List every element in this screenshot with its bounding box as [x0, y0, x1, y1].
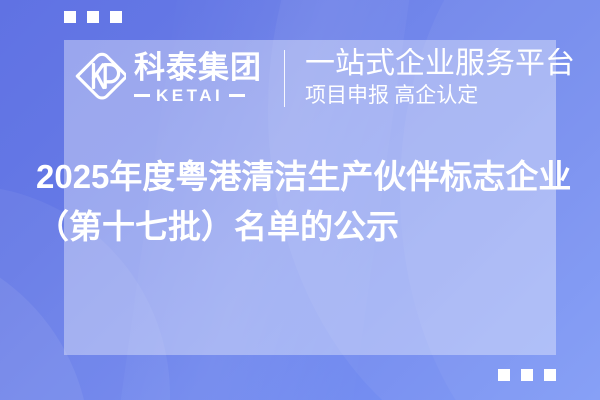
- square-dot-icon: [498, 369, 510, 381]
- slogan-block: 一站式企业服务平台 项目申报 高企认定: [305, 48, 575, 109]
- square-dot-icon: [544, 369, 556, 381]
- logo-rule-right: [229, 94, 245, 97]
- decorative-dots-top-left: [64, 11, 122, 23]
- logo-chinese-name: 科泰集团: [134, 52, 262, 83]
- logo-wordmark: 科泰集团 KETAI: [134, 52, 262, 104]
- logo-rule-left: [134, 94, 150, 97]
- square-dot-icon: [87, 11, 99, 23]
- square-dot-icon: [64, 11, 76, 23]
- notice-banner: 科泰集团 KETAI 一站式企业服务平台 项目申报 高企认定 2025年度粤港清…: [0, 0, 600, 400]
- header-vertical-divider: [284, 50, 285, 107]
- square-dot-icon: [521, 369, 533, 381]
- logo-english-row: KETAI: [134, 87, 262, 104]
- page-title: 2025年度粤港清洁生产伙伴标志企业（第十七批）名单的公示: [36, 152, 581, 252]
- logo-english-name: KETAI: [156, 87, 223, 104]
- slogan-secondary: 项目申报 高企认定: [305, 82, 575, 108]
- square-dot-icon: [110, 11, 122, 23]
- banner-header: 科泰集团 KETAI 一站式企业服务平台 项目申报 高企认定: [64, 40, 584, 116]
- ketai-logo-mark-icon: [70, 50, 126, 106]
- decorative-dots-bottom-right: [498, 369, 556, 381]
- slogan-primary: 一站式企业服务平台: [305, 48, 575, 80]
